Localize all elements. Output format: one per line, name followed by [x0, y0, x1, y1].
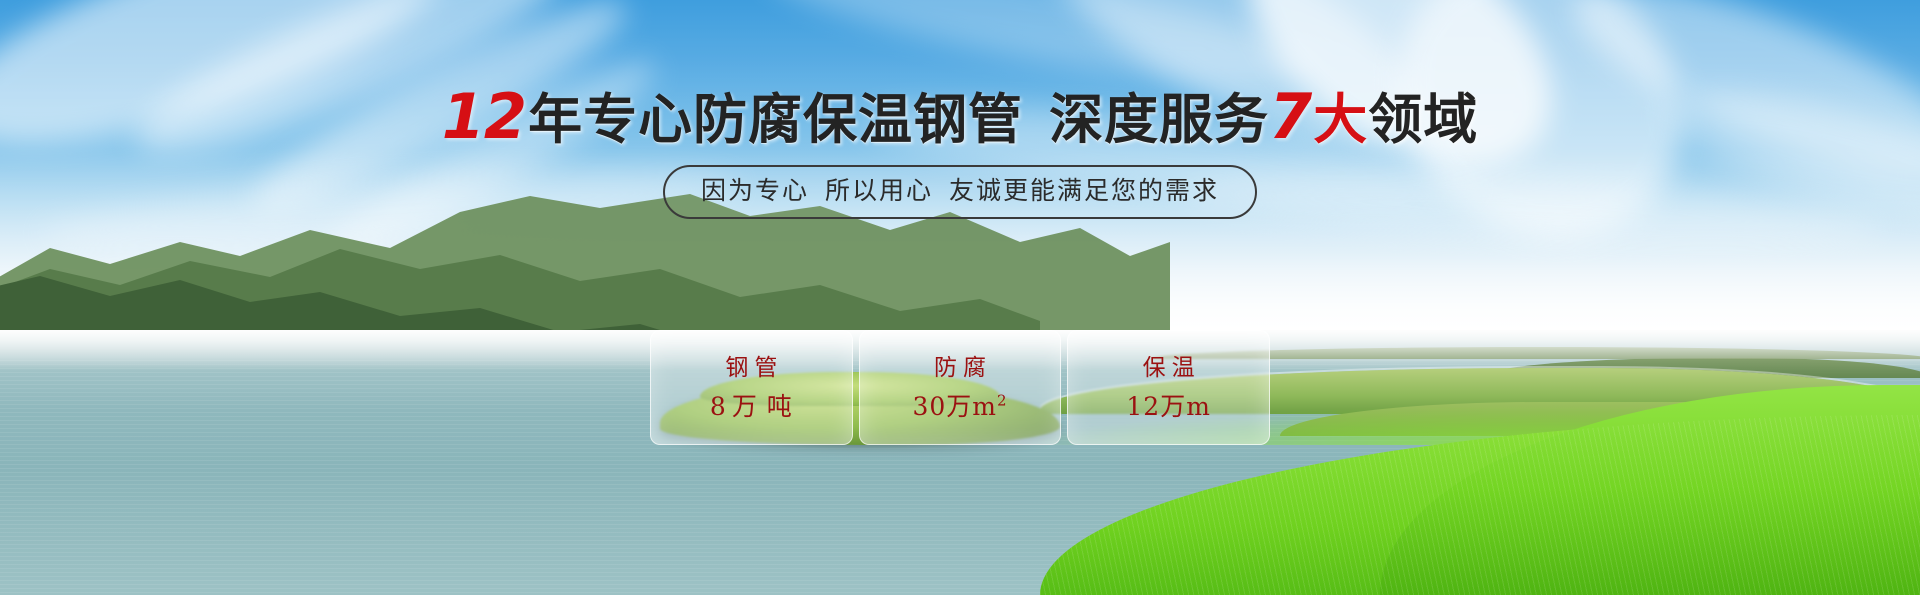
subtitle-pill: 因为专心所以用心友诚更能满足您的需求 — [663, 165, 1257, 219]
headline-years-number: 12 — [442, 80, 528, 153]
stat-cards: 钢管 8万 吨 防腐 30万m2 保温 12万m — [650, 330, 1270, 445]
headline-part-two: 深度服务 — [1049, 88, 1269, 151]
subtitle-segment-one: 因为专心 — [701, 176, 809, 205]
stat-card-label: 保温 — [1137, 353, 1201, 383]
subtitle-container: 因为专心所以用心友诚更能满足您的需求 — [0, 165, 1920, 219]
stat-card-value: 8万 吨 — [710, 392, 793, 422]
stat-card-value: 12万m — [1126, 392, 1211, 422]
stat-card-label: 防腐 — [928, 353, 992, 383]
stat-card-label: 钢管 — [719, 353, 783, 383]
headline-years-unit: 年 — [528, 88, 583, 151]
banner-content: 12年专心防腐保温钢管深度服务7大领域 因为专心所以用心友诚更能满足您的需求 钢… — [0, 0, 1920, 595]
headline-fields-unit: 大 — [1313, 88, 1368, 151]
stat-value-unit: 万m — [946, 392, 997, 421]
subtitle-segment-two: 所以用心 — [825, 176, 933, 205]
headline: 12年专心防腐保温钢管深度服务7大领域 — [0, 86, 1920, 151]
headline-fields-number: 7 — [1269, 80, 1313, 153]
stat-value-superscript: 2 — [997, 392, 1008, 410]
stat-value-number: 30 — [912, 392, 946, 421]
stat-value-number: 8 — [710, 392, 727, 421]
stat-card-value: 30万m2 — [912, 392, 1007, 422]
stat-value-unit: 万m — [1160, 392, 1211, 421]
stat-card-insulation: 保温 12万m — [1067, 330, 1270, 445]
stat-card-anticorrosion: 防腐 30万m2 — [859, 330, 1062, 445]
stat-card-steel-pipe: 钢管 8万 吨 — [650, 330, 853, 445]
hero-banner: 12年专心防腐保温钢管深度服务7大领域 因为专心所以用心友诚更能满足您的需求 钢… — [0, 0, 1920, 595]
stat-value-number: 12 — [1126, 392, 1160, 421]
headline-part-three: 领域 — [1368, 88, 1478, 151]
headline-part-one: 专心防腐保温钢管 — [583, 88, 1023, 151]
subtitle-segment-three: 友诚更能满足您的需求 — [949, 176, 1219, 205]
stat-value-unit: 万 吨 — [732, 392, 793, 421]
